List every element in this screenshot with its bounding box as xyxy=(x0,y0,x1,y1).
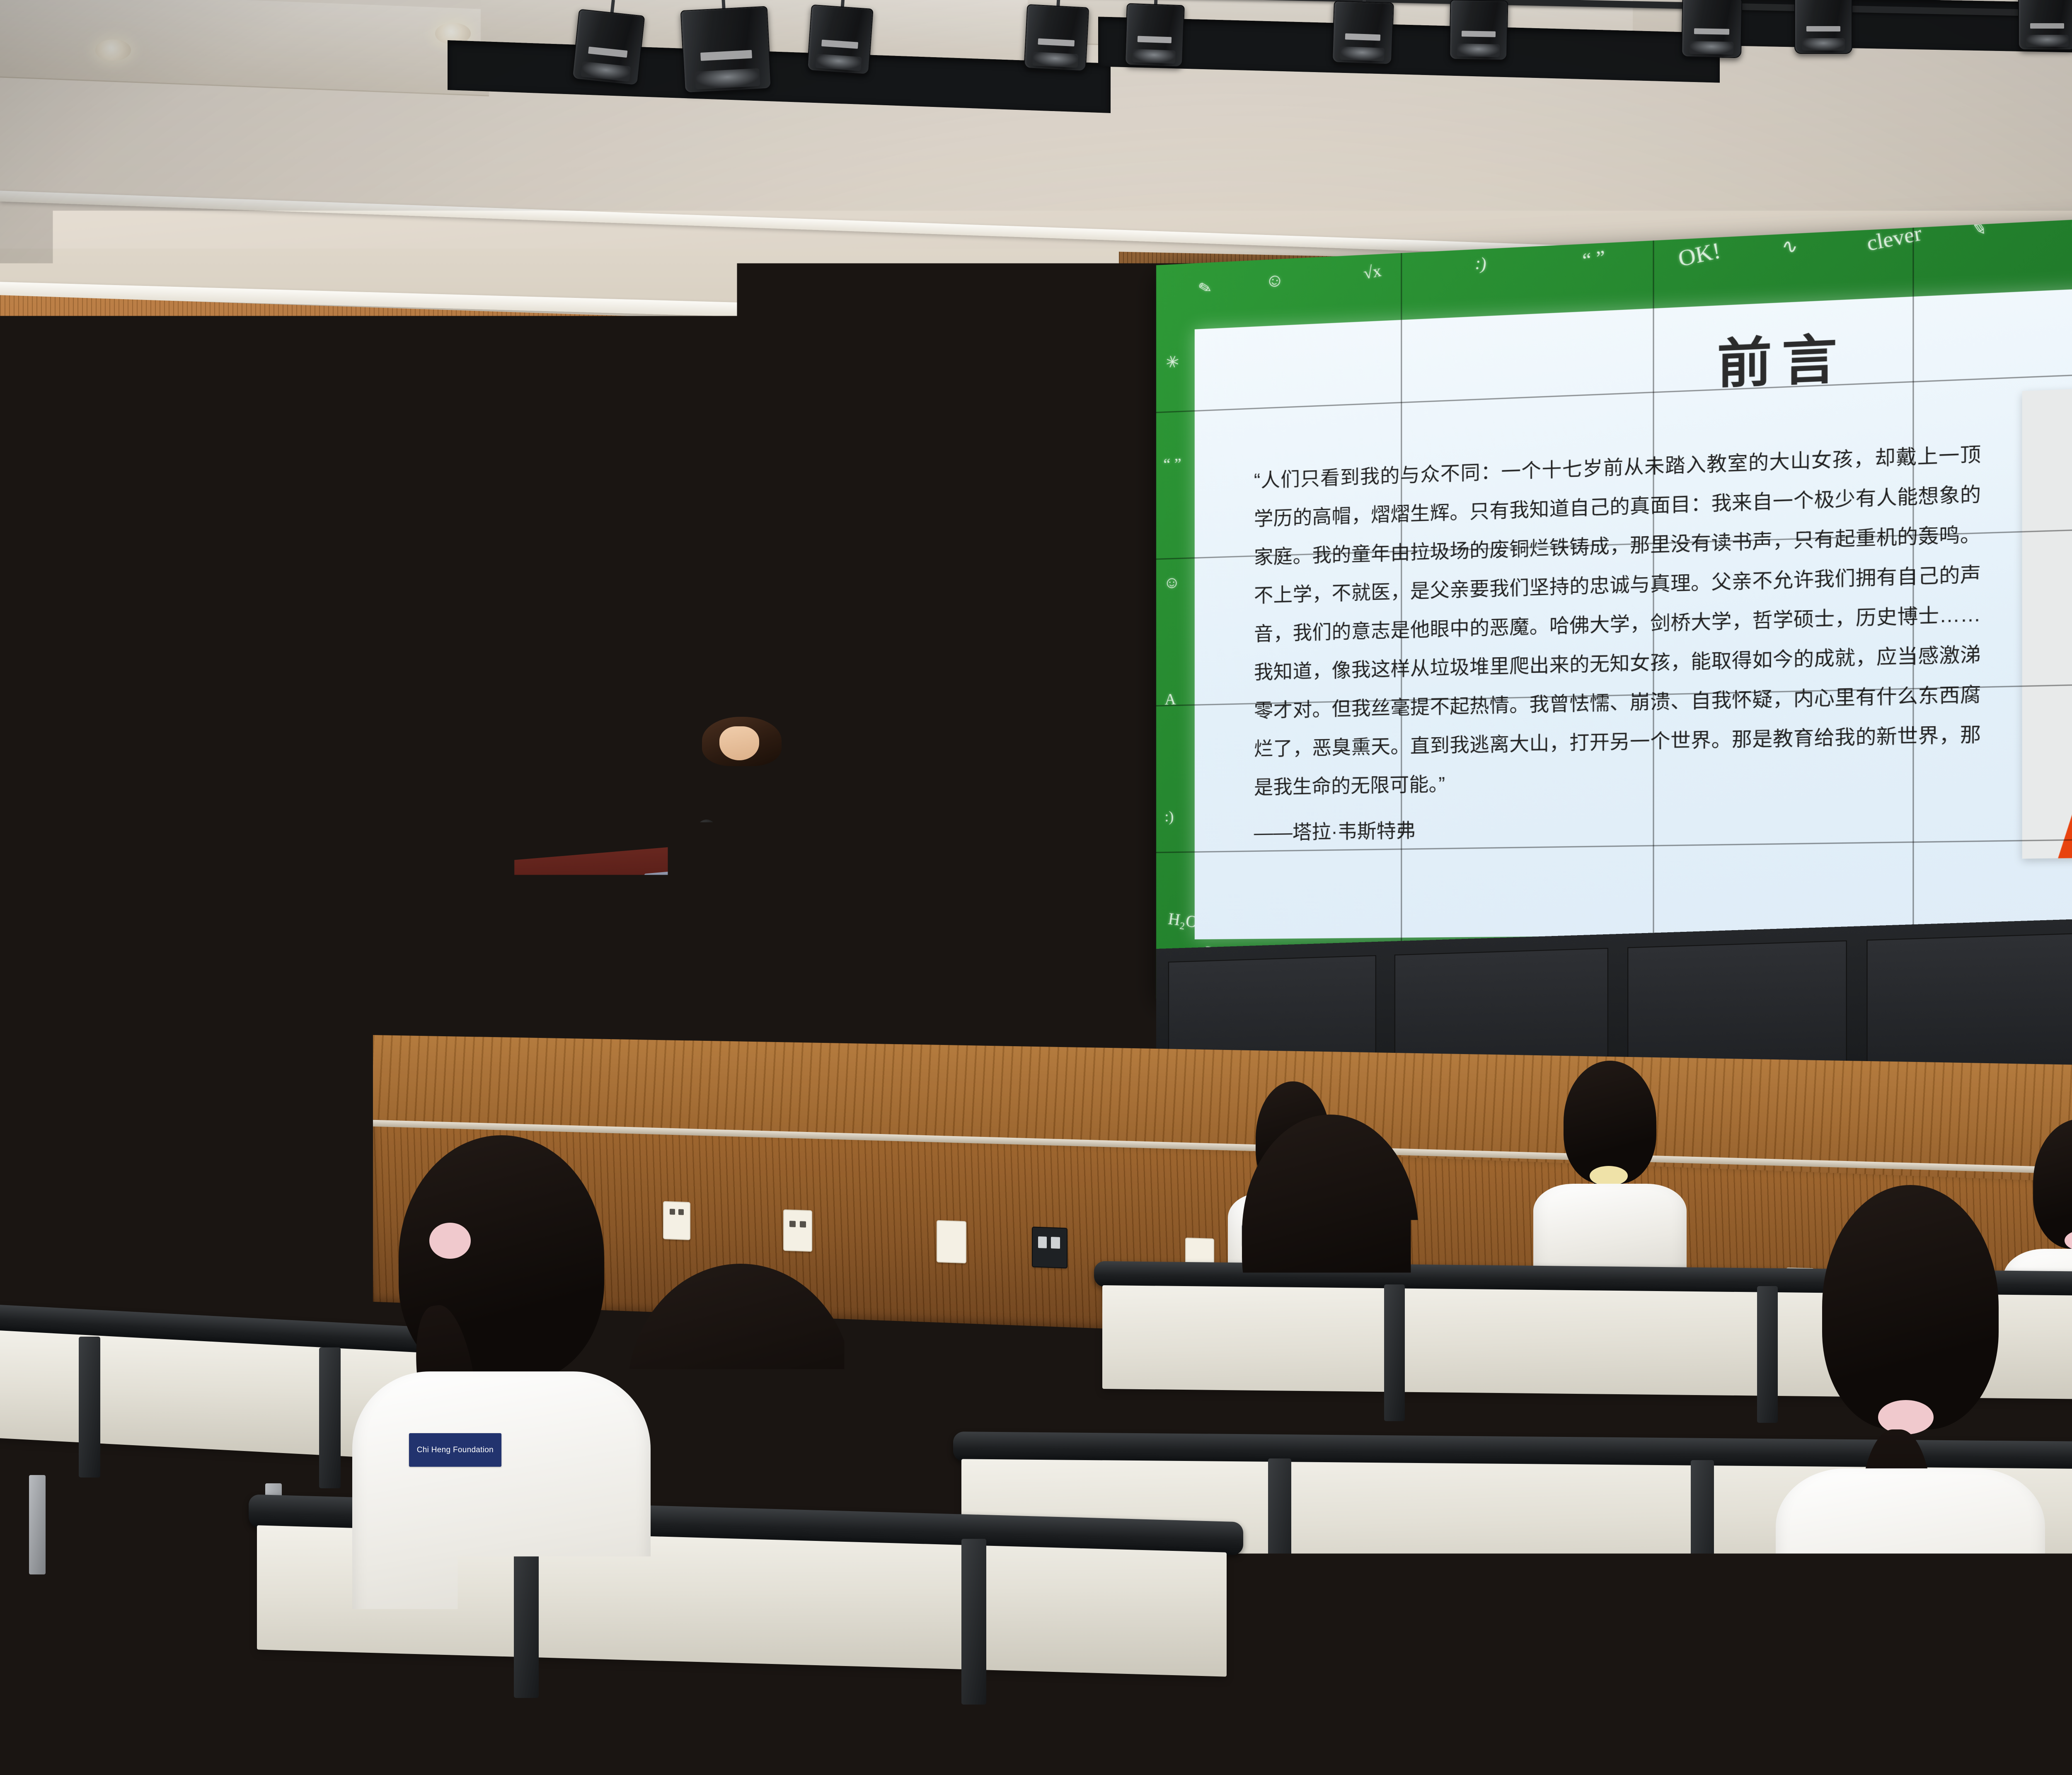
presenter xyxy=(680,717,804,1081)
seat-divider-post xyxy=(319,1347,341,1488)
presenter-shoe-left xyxy=(722,1125,747,1140)
stage-light xyxy=(1024,0,1089,72)
podium-name-cn: 明远讲坛 xyxy=(576,1067,642,1086)
doodle-icon: “ ” xyxy=(1582,246,1607,271)
doodle-icon: ✎ xyxy=(1197,278,1214,299)
slide-body-text: “人们只看到我的与众不同：一个十七岁前从未踏入教室的大山女孩，却戴上一顶学历的高… xyxy=(1254,434,1981,851)
seat-back-panel[interactable] xyxy=(0,1185,352,1301)
audience-hair xyxy=(282,1077,361,1185)
stage-light xyxy=(572,0,646,86)
hair-scrunchie xyxy=(1878,1400,1934,1434)
audience-member-foreground xyxy=(1794,1185,2026,1674)
wall-speaker xyxy=(274,328,406,418)
ceiling xyxy=(0,0,2072,265)
doodle-icon: √x xyxy=(1362,260,1382,283)
presentation-slide: ✎ ☺ √x :) “ ” OK! ∿ clever ✎ School Cool… xyxy=(1156,201,2072,999)
podium-nameplate: 明远讲坛 Mingyuan Forum xyxy=(559,1066,659,1098)
doodle-text-ok: OK! xyxy=(1676,237,1723,272)
doodle-icon: ☺ xyxy=(1263,268,1287,293)
audience-hair xyxy=(1822,1185,1999,1429)
projection-screen xyxy=(0,418,414,784)
audience-shirt xyxy=(1776,1468,2045,1693)
doodle-icon: ✳ xyxy=(1163,351,1182,374)
doodle-icon: ☺ xyxy=(1163,573,1180,592)
stage-light xyxy=(1125,0,1185,67)
seat-divider-post xyxy=(99,1189,119,1314)
book-author-cn: 〔美〕塔拉·韦斯特弗 著 xyxy=(2022,754,2072,772)
audience-member-foreground xyxy=(1442,1400,1699,1775)
doodle-icon: H₂O xyxy=(1167,908,1199,931)
doodle-icon: :) xyxy=(1474,253,1488,275)
book-author-en-line1: TARA xyxy=(2022,805,2072,825)
podium-crest-icon: ▣ xyxy=(580,1012,631,1063)
audience-member xyxy=(1542,1061,1678,1280)
doodle-icon: :) xyxy=(1164,808,1174,825)
av-connector-panel[interactable] xyxy=(1032,1226,1067,1268)
book-title-english: Educated xyxy=(2022,602,2072,655)
podium-name-en: Mingyuan Forum xyxy=(559,1087,659,1098)
stage-light xyxy=(807,0,874,75)
stage-light xyxy=(1794,0,1852,54)
audience-hair xyxy=(1242,1115,1418,1352)
seat-divider-post xyxy=(79,1337,100,1478)
seat-leg xyxy=(29,1475,46,1574)
audience-hair xyxy=(627,1264,854,1521)
doodle-icon: “ ” xyxy=(1163,455,1181,474)
presenter-arm-left xyxy=(677,885,697,994)
projection-screen-surface xyxy=(0,427,405,774)
book-author-english: TARA WESTOVER xyxy=(2022,805,2072,840)
audience-shirt xyxy=(1427,1637,1720,1775)
doodle-icon: ∿ xyxy=(1780,235,1799,258)
chi-heng-foundation-badge: Chi Heng Foundation xyxy=(409,1433,501,1467)
doodle-icon: A xyxy=(1164,690,1176,709)
eyeglasses xyxy=(83,1058,113,1073)
hair-scrunchie xyxy=(429,1223,470,1259)
seat-divider-post xyxy=(257,1195,276,1320)
power-outlet[interactable] xyxy=(937,1220,966,1264)
pencil-wood-shape xyxy=(2058,455,2072,858)
lecture-hall-photo: 尚 海纳百川 有容乃大 ✎ ☺ √x :) “ ” OK! ∿ clever ✎… xyxy=(0,0,2072,1775)
ceiling-downlight xyxy=(95,39,131,61)
stage-curtain xyxy=(758,323,1140,1098)
book-cover-image: 你当像鸟 飞往你的山 Educated 〔美〕塔拉·韦斯特弗 著 任爱红 译 T… xyxy=(2022,378,2072,859)
presenter-shoe-right xyxy=(744,1122,769,1136)
audience-member-foreground xyxy=(593,1264,883,1775)
book-title-chinese: 你当像鸟 飞往你的山 xyxy=(2022,526,2072,583)
audience-member-foreground xyxy=(1214,1115,1446,1570)
slide-quote-attribution: ——塔拉·韦斯特弗 xyxy=(1254,802,1981,852)
presenter-leg-left xyxy=(727,1092,739,1129)
audience-hair xyxy=(2033,1119,2072,1249)
audience-head xyxy=(1468,1400,1673,1652)
audience-shirt xyxy=(581,1510,906,1775)
hair-scrunchie xyxy=(1590,1166,1628,1186)
audience-face-profile xyxy=(61,1036,110,1110)
slide-content-card: 前言 “人们只看到我的与众不同：一个十七岁前从未踏入教室的大山女孩，却戴上一顶学… xyxy=(1195,274,2072,939)
presenter-skirt xyxy=(700,1001,784,1096)
power-outlet[interactable] xyxy=(663,1201,690,1240)
slide-title: 前言 xyxy=(1195,290,2072,419)
slide-quote-paragraph: “人们只看到我的与众不同：一个十七岁前从未踏入教室的大山女孩，却戴上一顶学历的高… xyxy=(1254,443,1981,798)
ceiling-bay xyxy=(0,0,489,97)
stage-light xyxy=(1681,0,1743,58)
book-title-cn-line1: 你当像鸟 xyxy=(2022,526,2072,560)
stage-light xyxy=(1449,0,1508,60)
led-video-wall: ✎ ☺ √x :) “ ” OK! ∿ clever ✎ School Cool… xyxy=(1156,201,2072,999)
seat-divider-post xyxy=(961,1539,986,1705)
hair-scrunchie xyxy=(1298,1324,1353,1356)
presenter-red-vest xyxy=(687,877,796,1008)
presenter-arm-right xyxy=(789,885,809,994)
stage-light xyxy=(680,0,772,93)
power-outlet[interactable] xyxy=(783,1209,812,1252)
presenter-face xyxy=(719,726,759,760)
book-author-chinese: 〔美〕塔拉·韦斯特弗 著 任爱红 译 xyxy=(2022,754,2072,783)
audience-hair xyxy=(1564,1061,1656,1184)
stage-light xyxy=(2018,0,2072,50)
seat-divider-post xyxy=(1757,1286,1778,1423)
audience-shirt xyxy=(1200,1379,1464,1589)
stage-light xyxy=(1332,0,1394,65)
